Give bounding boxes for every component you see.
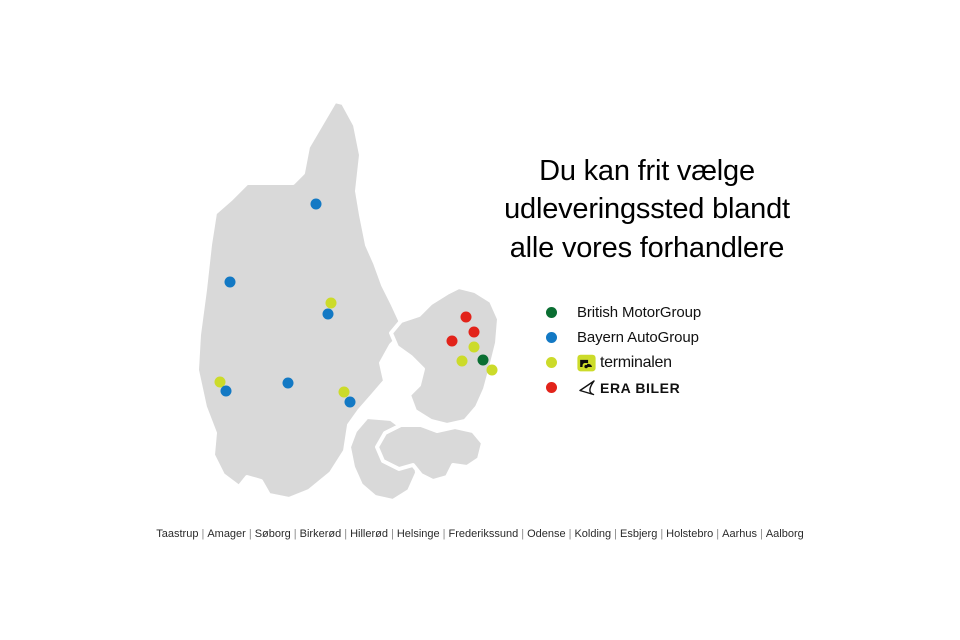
city-separator: | xyxy=(198,528,207,540)
city-separator: | xyxy=(713,528,722,540)
dealer-legend: British MotorGroup Bayern AutoGroup term… xyxy=(546,300,846,400)
terminalen-badge-icon xyxy=(577,354,596,372)
poster-canvas: Du kan frit vælge udleveringssted blandt… xyxy=(0,0,960,640)
era-biler-wordmark: ERA BILER xyxy=(600,380,680,396)
legend-item-british-motorgroup[interactable]: British MotorGroup xyxy=(546,300,846,325)
city-separator: | xyxy=(440,528,449,540)
headline-line-1: Du kan frit vælge xyxy=(452,152,842,190)
headline-line-3: alle vores forhandlere xyxy=(452,229,842,267)
map-marker-aarhus-terminalen[interactable] xyxy=(326,298,337,309)
terminalen-logo: terminalen xyxy=(577,352,672,374)
city-separator: | xyxy=(657,528,666,540)
city-kolding: Kolding xyxy=(574,528,611,540)
page-title: Du kan frit vælge udleveringssted blandt… xyxy=(452,152,842,267)
city-amager: Amager xyxy=(207,528,246,540)
city-taastrup: Taastrup xyxy=(156,528,198,540)
map-marker-aalborg-bayern[interactable] xyxy=(311,199,322,210)
city-separator: | xyxy=(291,528,300,540)
city-hiller-d: Hillerød xyxy=(350,528,388,540)
map-marker-taastrup-terminalen[interactable] xyxy=(457,356,468,367)
map-marker-kolding-bayern[interactable] xyxy=(283,378,294,389)
city-list: Taastrup|Amager|Søborg|Birkerød|Hillerød… xyxy=(0,528,960,540)
map-marker-odense-bayern[interactable] xyxy=(345,397,356,408)
city-separator: | xyxy=(246,528,255,540)
map-marker-helsinge-era[interactable] xyxy=(461,312,472,323)
map-marker-aarhus-bayern[interactable] xyxy=(323,309,334,320)
city-aalborg: Aalborg xyxy=(766,528,804,540)
city-birker-d: Birkerød xyxy=(300,528,342,540)
city-esbjerg: Esbjerg xyxy=(620,528,657,540)
map-marker-frederikssund-era[interactable] xyxy=(447,336,458,347)
map-marker-hillerod-era[interactable] xyxy=(469,327,480,338)
city-odense: Odense xyxy=(527,528,566,540)
terminalen-wordmark: terminalen xyxy=(600,354,672,372)
map-marker-birkerod-terminalen[interactable] xyxy=(469,342,480,353)
headline-line-2: udleveringssted blandt xyxy=(452,190,842,228)
map-marker-esbjerg-bayern[interactable] xyxy=(221,386,232,397)
city-separator: | xyxy=(518,528,527,540)
legend-label-british-motorgroup: British MotorGroup xyxy=(577,304,701,321)
city-s-borg: Søborg xyxy=(255,528,291,540)
era-biler-triangle-icon xyxy=(577,379,597,397)
legend-swatch-blue xyxy=(546,332,557,343)
legend-item-bayern-autogroup[interactable]: Bayern AutoGroup xyxy=(546,325,846,350)
legend-item-terminalen[interactable]: terminalen xyxy=(546,350,846,375)
map-marker-amager-terminalen[interactable] xyxy=(487,365,498,376)
city-frederikssund: Frederikssund xyxy=(449,528,519,540)
legend-swatch-green xyxy=(546,307,557,318)
city-separator: | xyxy=(341,528,350,540)
legend-label-bayern-autogroup: Bayern AutoGroup xyxy=(577,329,699,346)
city-separator: | xyxy=(388,528,397,540)
city-separator: | xyxy=(757,528,766,540)
legend-swatch-yellow xyxy=(546,357,557,368)
city-holstebro: Holstebro xyxy=(666,528,713,540)
era-biler-logo: ERA BILER xyxy=(577,377,680,399)
map-marker-soborg-british[interactable] xyxy=(478,355,489,366)
legend-swatch-red xyxy=(546,382,557,393)
city-aarhus: Aarhus xyxy=(722,528,757,540)
city-separator: | xyxy=(611,528,620,540)
city-helsinge: Helsinge xyxy=(397,528,440,540)
map-marker-holstebro-bayern[interactable] xyxy=(225,277,236,288)
legend-item-era-biler[interactable]: ERA BILER xyxy=(546,375,846,400)
